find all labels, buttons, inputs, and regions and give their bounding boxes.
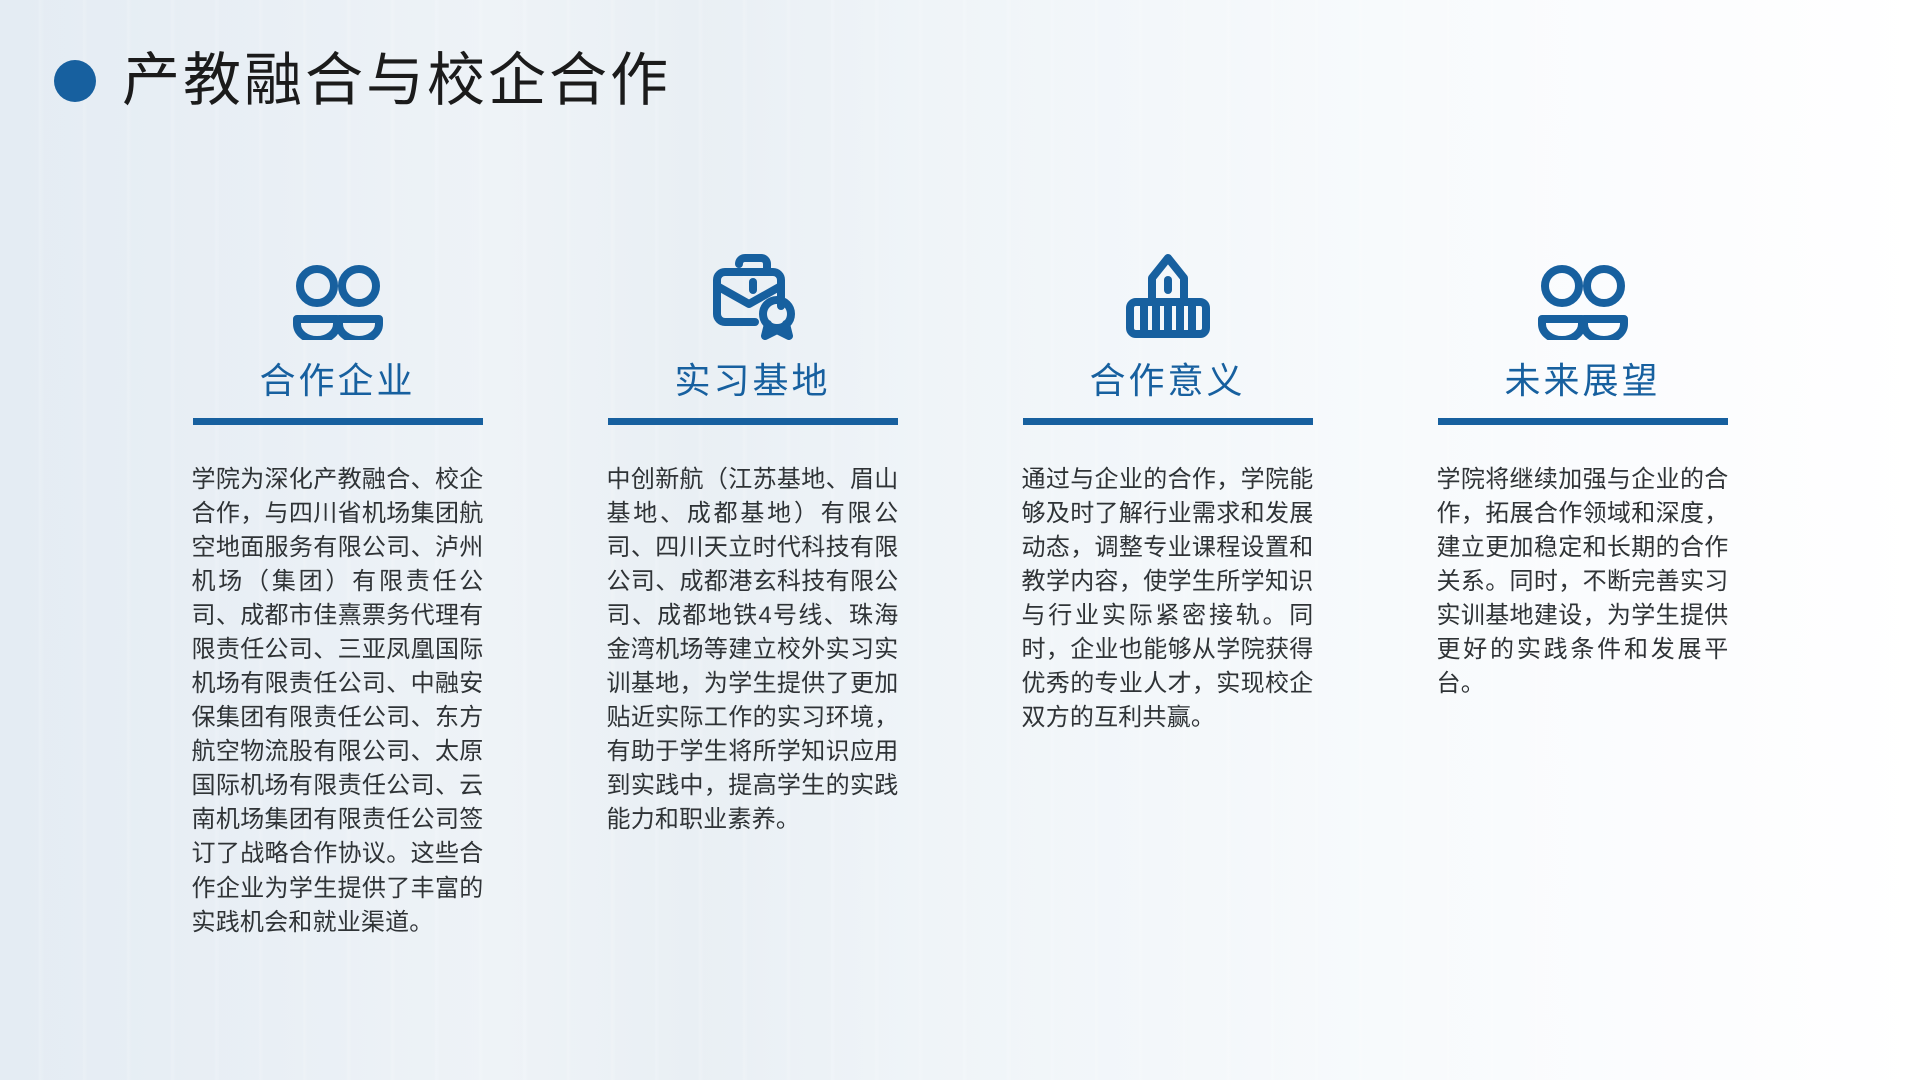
column-heading: 合作企业 <box>259 362 415 402</box>
heading-underline <box>608 418 898 425</box>
column-cooperating-enterprises: 合作企业 学院为深化产教融合、校企合作，与四川省机场集团航空地面服务有限公司、泸… <box>130 230 545 940</box>
column-body-text: 通过与企业的合作，学院能够及时了解行业需求和发展动态，调整专业课程设置和教学内容… <box>1022 463 1314 736</box>
two-people-icon <box>1537 230 1629 340</box>
institution-building-icon <box>1122 230 1214 340</box>
heading-underline <box>1438 418 1728 425</box>
heading-underline <box>193 418 483 425</box>
slide-canvas: 产教融合与校企合作 合作企业 学院为深化产教融合、校企合作，与四川省机场集团航空… <box>0 0 1920 1080</box>
slide-title-row: 产教融合与校企合作 <box>54 52 671 110</box>
bullet-icon <box>54 60 96 102</box>
two-people-icon <box>292 230 384 340</box>
page-title: 产教融合与校企合作 <box>122 52 671 110</box>
column-heading: 未来展望 <box>1504 362 1660 402</box>
column-heading: 合作意义 <box>1089 362 1245 402</box>
column-body-text: 学院将继续加强与企业的合作，拓展合作领域和深度，建立更加稳定和长期的合作关系。同… <box>1437 463 1729 702</box>
column-internship-bases: 实习基地 中创新航（江苏基地、眉山基地、成都基地）有限公司、四川天立时代科技有限… <box>545 230 960 940</box>
column-body-text: 中创新航（江苏基地、眉山基地、成都基地）有限公司、四川天立时代科技有限公司、成都… <box>607 463 899 838</box>
briefcase-badge-icon <box>707 230 799 340</box>
column-cooperation-significance: 合作意义 通过与企业的合作，学院能够及时了解行业需求和发展动态，调整专业课程设置… <box>960 230 1375 940</box>
column-heading: 实习基地 <box>674 362 830 402</box>
column-body-text: 学院为深化产教融合、校企合作，与四川省机场集团航空地面服务有限公司、泸州机场（集… <box>192 463 484 940</box>
column-future-outlook: 未来展望 学院将继续加强与企业的合作，拓展合作领域和深度，建立更加稳定和长期的合… <box>1375 230 1790 940</box>
content-columns: 合作企业 学院为深化产教融合、校企合作，与四川省机场集团航空地面服务有限公司、泸… <box>130 230 1790 940</box>
heading-underline <box>1023 418 1313 425</box>
